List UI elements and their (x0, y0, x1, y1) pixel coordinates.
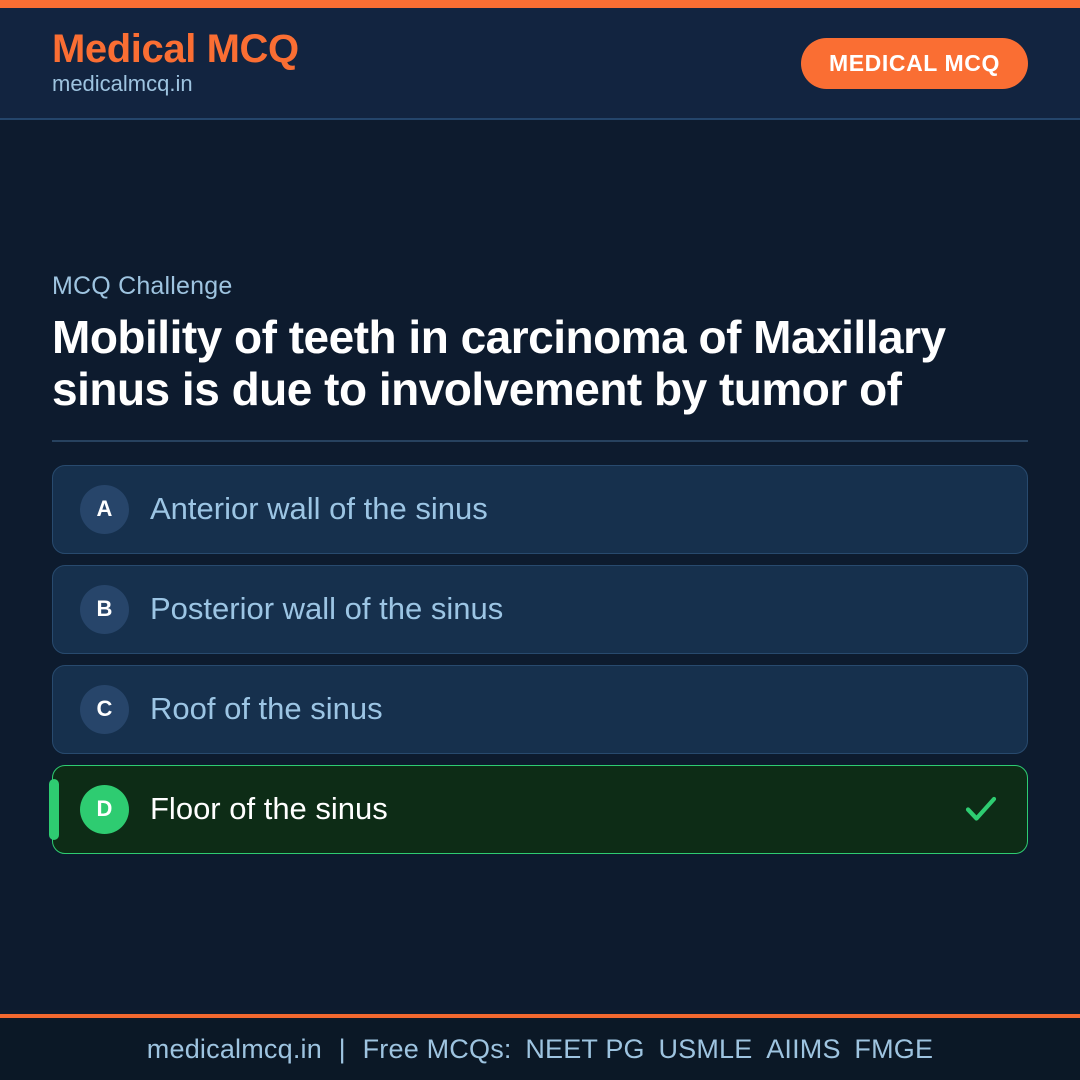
option-letter-badge-d: D (80, 785, 129, 834)
option-letter-badge-a: A (80, 485, 129, 534)
question-divider (52, 440, 1028, 442)
option-row-a[interactable]: A Anterior wall of the sinus (52, 465, 1028, 554)
options-list: A Anterior wall of the sinus B Posterior… (52, 465, 1028, 854)
footer-site: medicalmcq.in (147, 1034, 322, 1064)
footer-exam-fmge: FMGE (848, 1034, 933, 1064)
question-text: Mobility of teeth in carcinoma of Maxill… (52, 311, 1012, 416)
check-icon (962, 790, 1000, 828)
option-text-c: Roof of the sinus (150, 692, 383, 726)
option-text-a: Anterior wall of the sinus (150, 492, 488, 526)
brand-block: Medical MCQ medicalmcq.in (52, 28, 299, 96)
footer-separator: | (330, 1034, 355, 1064)
header-bar: Medical MCQ medicalmcq.in MEDICAL MCQ (0, 8, 1080, 120)
brand-title: Medical MCQ (52, 28, 299, 70)
footer-exam-usmle: USMLE (652, 1034, 752, 1064)
footer-bar: medicalmcq.in | Free MCQs: NEET PG USMLE… (0, 1014, 1080, 1080)
footer-text: medicalmcq.in | Free MCQs: NEET PG USMLE… (147, 1034, 933, 1065)
footer-exam-aiims: AIIMS (760, 1034, 841, 1064)
option-letter-badge-b: B (80, 585, 129, 634)
question-zone: MCQ Challenge Mobility of teeth in carci… (52, 272, 1028, 416)
option-row-c[interactable]: C Roof of the sinus (52, 665, 1028, 754)
footer-exam-neetpg: NEET PG (519, 1034, 644, 1064)
header-badge: MEDICAL MCQ (801, 38, 1028, 89)
option-text-b: Posterior wall of the sinus (150, 592, 503, 626)
main-content: MCQ Challenge Mobility of teeth in carci… (0, 120, 1080, 1014)
footer-exams-label: Free MCQs: (363, 1034, 512, 1064)
correct-accent-bar (49, 779, 59, 840)
kicker-label: MCQ Challenge (52, 272, 1028, 301)
option-text-d: Floor of the sinus (150, 792, 388, 826)
option-row-d[interactable]: D Floor of the sinus (52, 765, 1028, 854)
brand-subtitle: medicalmcq.in (52, 71, 299, 96)
option-row-b[interactable]: B Posterior wall of the sinus (52, 565, 1028, 654)
mcq-card: Medical MCQ medicalmcq.in MEDICAL MCQ MC… (0, 0, 1080, 1080)
option-letter-badge-c: C (80, 685, 129, 734)
top-accent-bar (0, 0, 1080, 8)
